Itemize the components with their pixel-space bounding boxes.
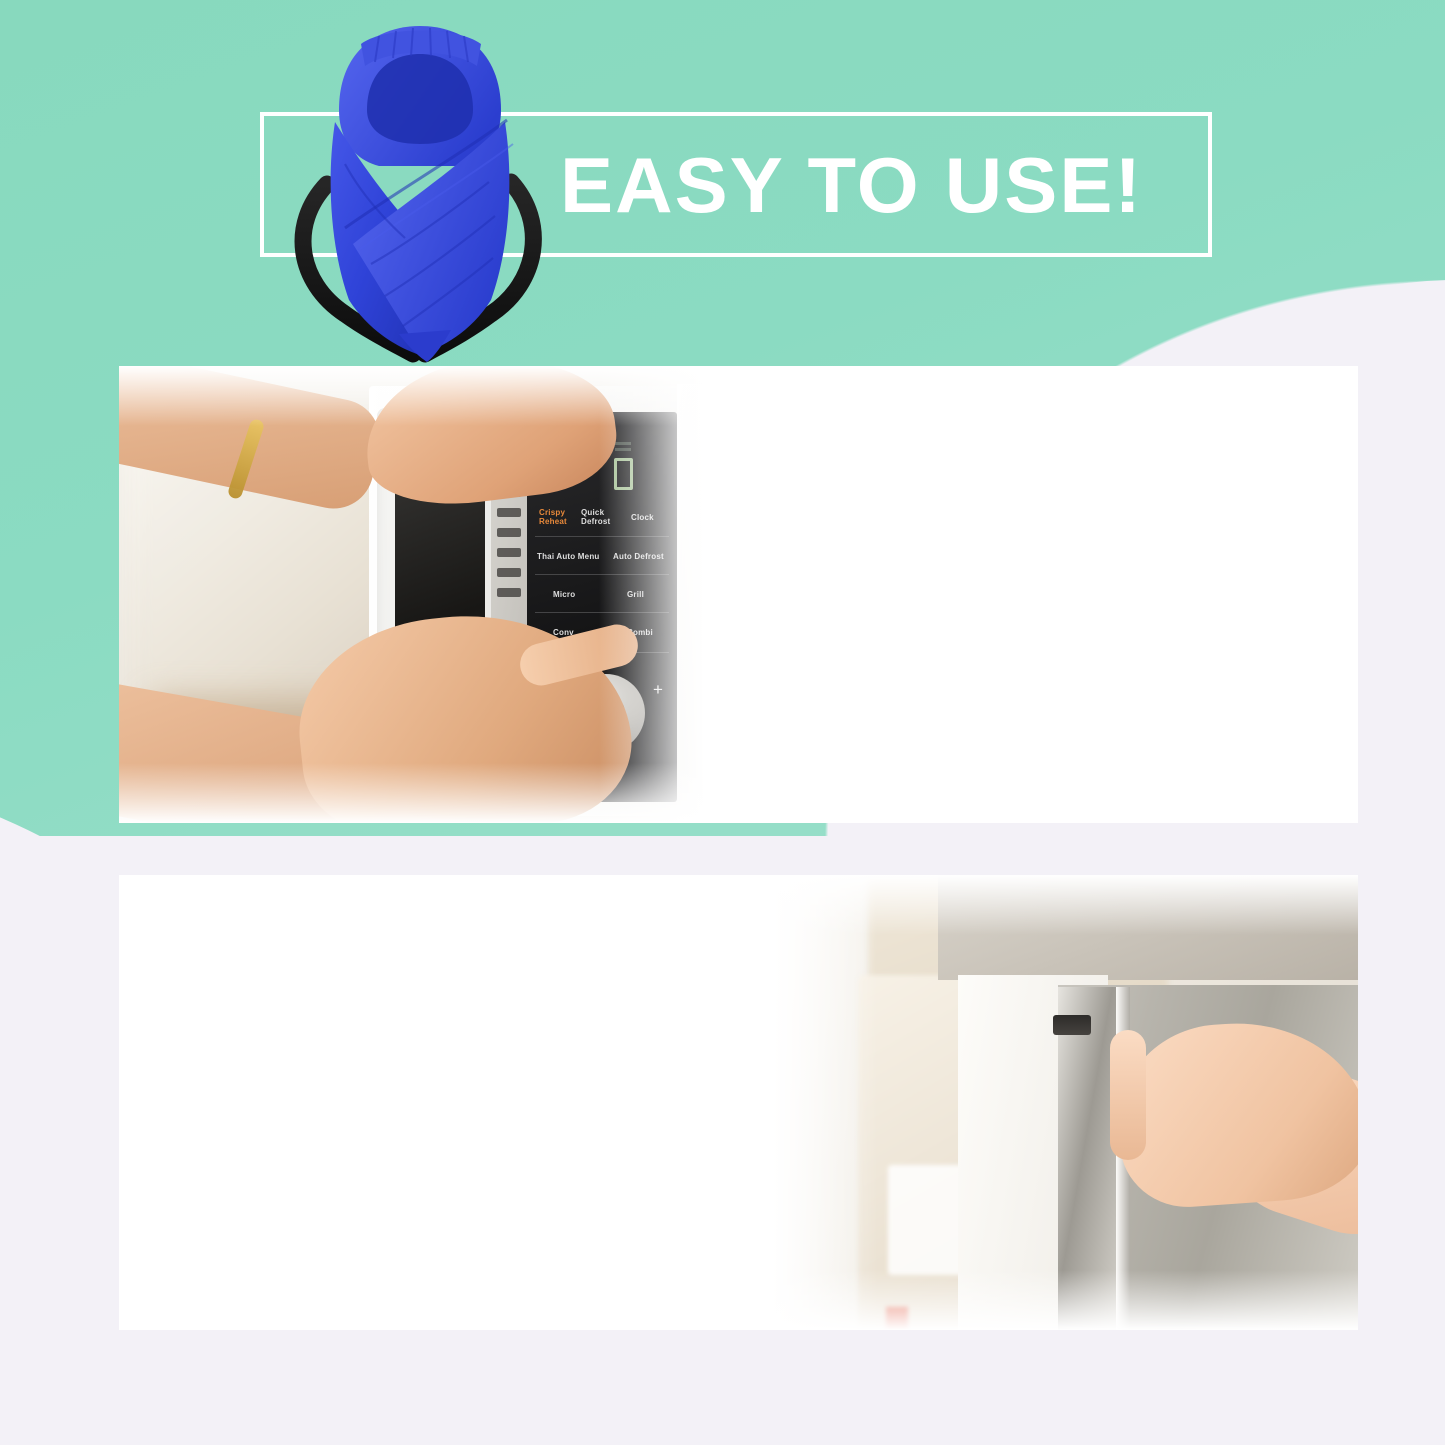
microwave-button-micro[interactable]: Micro (553, 590, 575, 599)
hand-opening-microwave-photo: Crispy Reheat Quick Defrost Clock Thai A… (119, 366, 719, 823)
photo-fade-top (758, 875, 1358, 935)
freezer-fingers (1110, 1030, 1146, 1160)
photo-fade-left (758, 875, 878, 1330)
section-card-heat: Crispy Reheat Quick Defrost Clock Thai A… (119, 366, 1358, 823)
photo-fade-right (599, 366, 719, 823)
photo-fade-top (119, 366, 719, 426)
page-title: EASY TO USE! (560, 133, 1233, 238)
microwave-scene: Crispy Reheat Quick Defrost Clock Thai A… (119, 366, 719, 823)
photo-fade-bottom (119, 763, 719, 823)
photo-fade-bottom (758, 1270, 1358, 1330)
fridge-door-handle (1053, 1015, 1091, 1035)
freezer-scene (758, 875, 1358, 1330)
microwave-button-crispy-reheat[interactable]: Crispy Reheat (539, 508, 569, 526)
microwave-button-thai-auto-menu[interactable]: Thai Auto Menu (537, 552, 600, 561)
hand-opening-freezer-photo (758, 875, 1358, 1330)
product-image-neck-wrap (275, 14, 565, 364)
infographic-canvas: EASY TO USE! (0, 0, 1445, 1445)
section-card-chill: CHILL IN THE FREEZER Relieve injured mus… (119, 875, 1358, 1330)
